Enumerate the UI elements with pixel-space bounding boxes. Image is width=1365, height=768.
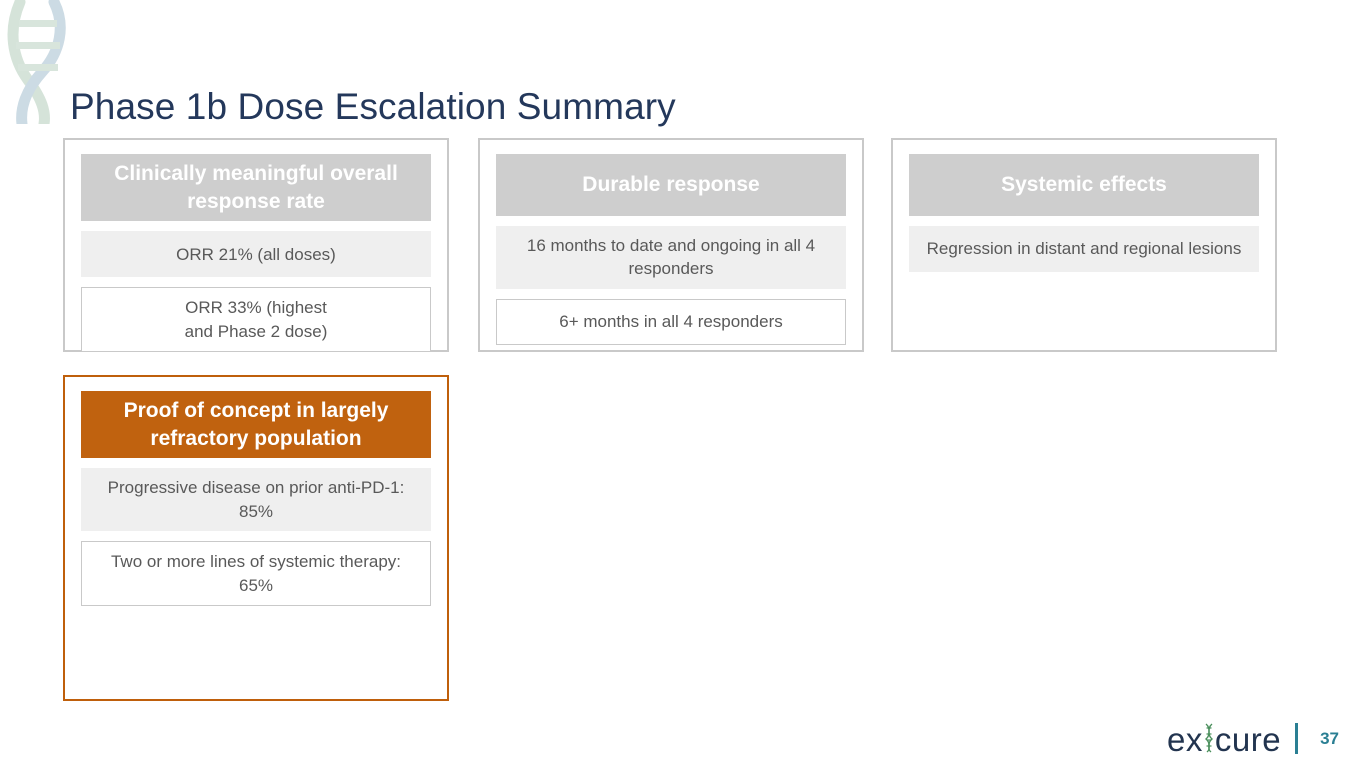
logo-text-cure: cure [1215, 723, 1281, 756]
card-header-clinically-meaningful-orr: Clinically meaningful overall response r… [81, 154, 431, 221]
card-header-systemic-effects: Systemic effects [909, 154, 1259, 216]
card-systemic-effects: Systemic effects Regression in distant a… [891, 138, 1277, 352]
page-number: 37 [1320, 730, 1339, 747]
card-header-durable-response: Durable response [496, 154, 846, 216]
card-row-16-months: 16 months to date and ongoing in all 4 r… [496, 226, 846, 289]
card-row-orr-all-doses: ORR 21% (all doses) [81, 231, 431, 277]
logo-text-ex: ex [1167, 723, 1203, 756]
card-durable-response: Durable response 16 months to date and o… [478, 138, 864, 352]
footer-divider [1295, 723, 1298, 754]
dna-helix-watermark [2, 0, 80, 124]
card-row-6-plus-months: 6+ months in all 4 responders [496, 299, 846, 345]
slide-canvas: Phase 1b Dose Escalation Summary Clinica… [0, 0, 1365, 768]
card-header-proof-of-concept: Proof of concept in largely refractory p… [81, 391, 431, 458]
card-clinically-meaningful-orr: Clinically meaningful overall response r… [63, 138, 449, 352]
card-row-orr-highest-dose-text: ORR 33% (highest and Phase 2 dose) [185, 296, 328, 343]
card-proof-of-concept: Proof of concept in largely refractory p… [63, 375, 449, 701]
card-row-regression-lesions: Regression in distant and regional lesio… [909, 226, 1259, 272]
logo-dna-i-icon [1203, 723, 1215, 753]
card-row-progressive-disease: Progressive disease on prior anti-PD-1: … [81, 468, 431, 531]
card-row-orr-highest-dose: ORR 33% (highest and Phase 2 dose) [81, 287, 431, 352]
exicure-logo: ex cure [1167, 721, 1281, 756]
page-title: Phase 1b Dose Escalation Summary [70, 87, 676, 128]
card-row-systemic-therapy-lines: Two or more lines of systemic therapy: 6… [81, 541, 431, 606]
footer: ex cure 37 [1167, 721, 1339, 756]
